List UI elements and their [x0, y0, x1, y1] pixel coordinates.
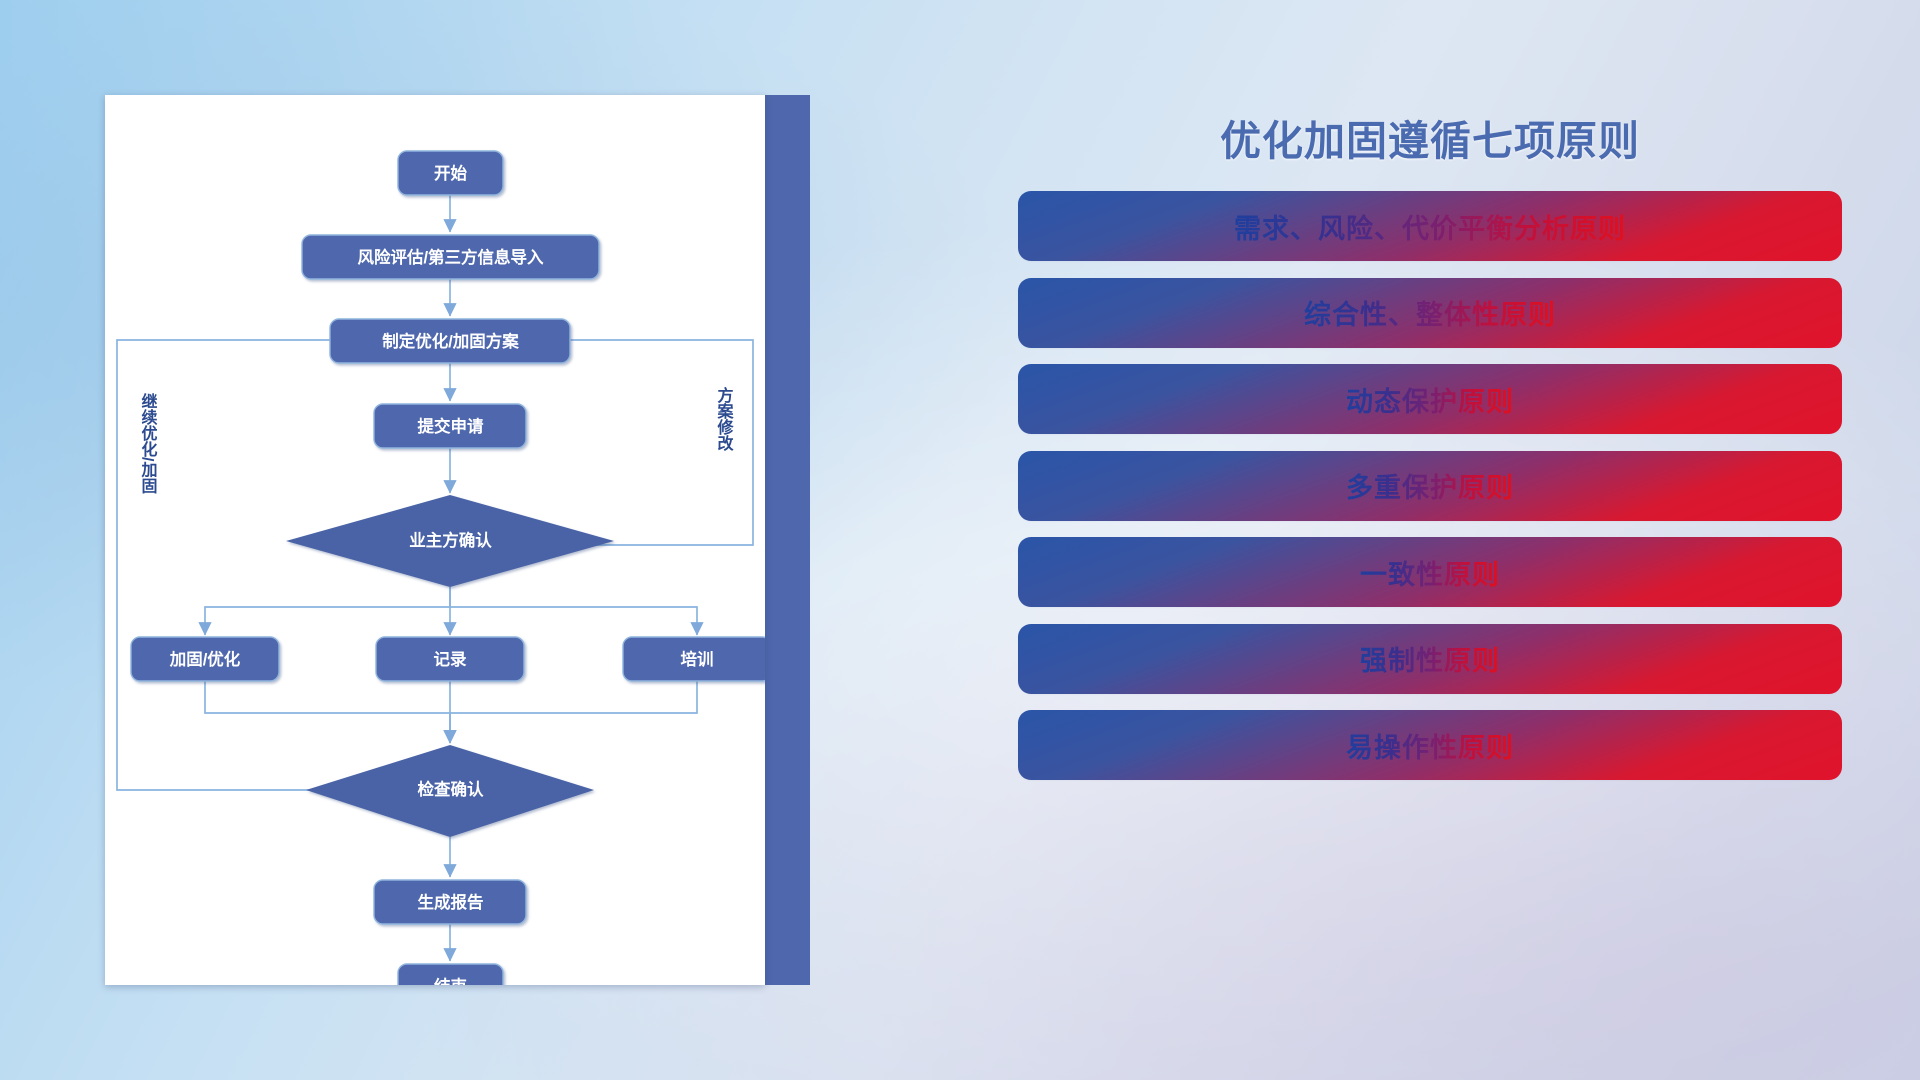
principle-label: 易操作性原则	[1346, 726, 1514, 765]
flow-node-end[interactable]: 结束	[398, 964, 503, 985]
principle-card[interactable]: 强制性原则	[1020, 626, 1840, 692]
page-title: 优化加固遵循七项原则	[1020, 107, 1840, 167]
flow-node-label: 培训	[681, 649, 714, 669]
flow-node-label: 记录	[434, 650, 468, 669]
edge-label-plan-revision: 方案修改	[715, 386, 735, 452]
principle-card[interactable]: 综合性、整体性原则	[1020, 280, 1840, 346]
flow-node-submit[interactable]: 提交申请	[374, 404, 526, 448]
flow-node-training[interactable]: 培训	[623, 637, 765, 681]
flow-node-label: 制定优化/加固方案	[382, 331, 519, 351]
flow-node-label: 提交申请	[418, 416, 485, 436]
principle-label: 一致性原则	[1360, 553, 1500, 592]
principle-label: 动态保护原则	[1346, 380, 1514, 419]
principles-panel: 优化加固遵循七项原则 需求、风险、代价平衡分析原则 综合性、整体性原则 动态保护…	[1020, 95, 1840, 995]
list-item[interactable]: 综合性、整体性原则	[1020, 280, 1840, 346]
flowchart-panel: 开始 风险评估/第三方信息导入 制定优化/加固方案 提交申请 业主方确认 加固/…	[105, 95, 765, 985]
principle-label: 多重保护原则	[1346, 466, 1514, 505]
principle-card[interactable]: 易操作性原则	[1020, 712, 1840, 778]
principle-card[interactable]: 动态保护原则	[1020, 366, 1840, 432]
list-item[interactable]: 易操作性原则	[1020, 712, 1840, 778]
flow-node-owner[interactable]: 业主方确认	[286, 495, 614, 587]
principle-label: 强制性原则	[1360, 639, 1500, 678]
flow-node-record[interactable]: 记录	[376, 637, 524, 681]
principle-card[interactable]: 需求、风险、代价平衡分析原则	[1020, 193, 1840, 259]
flow-node-risk[interactable]: 风险评估/第三方信息导入	[302, 235, 599, 279]
list-item[interactable]: 一致性原则	[1020, 539, 1840, 605]
flow-node-label: 风险评估/第三方信息导入	[357, 247, 544, 267]
principle-card[interactable]: 多重保护原则	[1020, 453, 1840, 519]
flow-nodes: 开始 风险评估/第三方信息导入 制定优化/加固方案 提交申请 业主方确认 加固/…	[131, 151, 765, 985]
principle-label: 综合性、整体性原则	[1304, 293, 1556, 332]
list-item[interactable]: 动态保护原则	[1020, 366, 1840, 432]
flow-node-label: 生成报告	[418, 892, 484, 912]
principle-card[interactable]: 一致性原则	[1020, 539, 1840, 605]
flow-node-label: 业主方确认	[409, 530, 492, 550]
flow-node-label: 开始	[434, 163, 468, 183]
list-item[interactable]: 需求、风险、代价平衡分析原则	[1020, 193, 1840, 259]
list-item[interactable]: 多重保护原则	[1020, 453, 1840, 519]
flow-node-start[interactable]: 开始	[398, 151, 503, 195]
flow-node-label: 检查确认	[418, 779, 485, 799]
flowchart-diagram: 开始 风险评估/第三方信息导入 制定优化/加固方案 提交申请 业主方确认 加固/…	[105, 95, 765, 985]
principle-label: 需求、风险、代价平衡分析原则	[1234, 207, 1626, 246]
flow-node-report[interactable]: 生成报告	[374, 880, 526, 924]
principles-list: 需求、风险、代价平衡分析原则 综合性、整体性原则 动态保护原则 多重保护原则 一…	[1020, 193, 1840, 778]
flow-node-label: 加固/优化	[169, 649, 241, 669]
list-item[interactable]: 强制性原则	[1020, 626, 1840, 692]
flow-node-label: 结束	[434, 976, 468, 985]
flow-node-plan[interactable]: 制定优化/加固方案	[330, 319, 570, 363]
edge-label-continue-optimize: 继续优化/加固	[139, 392, 159, 494]
flow-node-reinforce[interactable]: 加固/优化	[131, 637, 279, 681]
flow-node-check[interactable]: 检查确认	[306, 745, 594, 837]
